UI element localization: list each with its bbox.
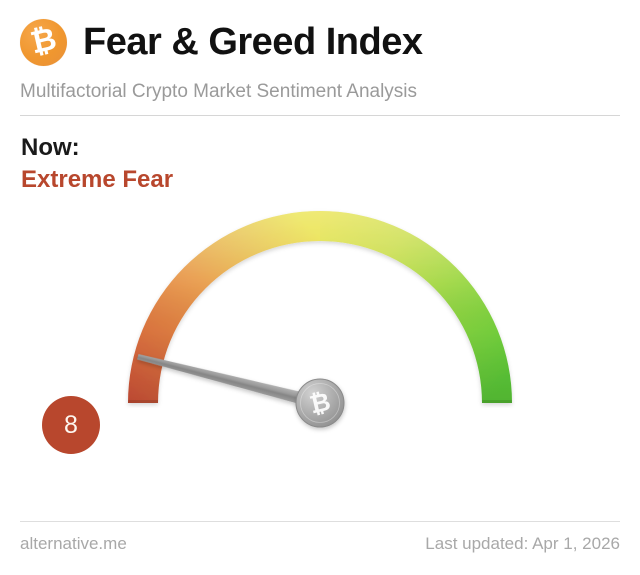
page-header: ₿ Fear & Greed Index Multifactorial Cryp… [20, 14, 620, 114]
gauge-arc-shading [128, 211, 512, 403]
gauge-chart: ₿ [0, 190, 640, 500]
score-value: 8 [64, 413, 78, 438]
gauge-hub: ₿ [296, 379, 344, 427]
gauge-arc-cap-left [128, 400, 158, 403]
bitcoin-icon: ₿ [20, 19, 67, 66]
gauge-arc-group [128, 211, 512, 403]
header-divider [20, 115, 620, 116]
gauge-svg: ₿ [0, 190, 640, 500]
page-title: Fear & Greed Index [83, 23, 422, 61]
page-footer: alternative.me Last updated: Apr 1, 2026 [20, 534, 620, 554]
bitcoin-glyph: ₿ [28, 23, 60, 59]
current-status-block: Now: Extreme Fear [21, 133, 173, 195]
last-updated-label: Last updated: Apr 1, 2026 [425, 534, 620, 554]
gauge-arc-cap-right [482, 400, 512, 403]
footer-divider [20, 521, 620, 522]
fear-greed-index-page: ₿ Fear & Greed Index Multifactorial Cryp… [0, 0, 640, 575]
source-label: alternative.me [20, 534, 127, 554]
page-subtitle: Multifactorial Crypto Market Sentiment A… [20, 81, 620, 103]
header-title-row: ₿ Fear & Greed Index [20, 14, 620, 70]
score-badge: 8 [42, 396, 100, 454]
now-label: Now: [21, 133, 173, 163]
